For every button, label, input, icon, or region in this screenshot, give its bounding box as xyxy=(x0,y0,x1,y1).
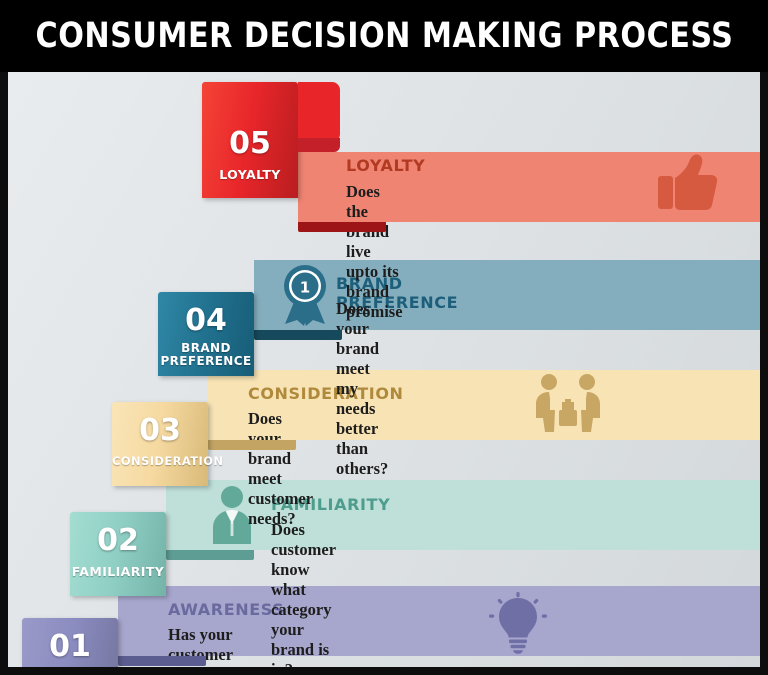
step-ribbon-shadow-brand-preference xyxy=(254,330,342,340)
infographic-page: Consumer Decision Making Process Awarene… xyxy=(0,0,768,675)
step-bar-title-awareness: Awareness xyxy=(168,600,284,619)
step-ribbon-shadow-awareness xyxy=(118,656,206,666)
step-ribbon-brand-preference[interactable]: 04 Brand Preference xyxy=(158,292,254,376)
step-label-brand-preference: Brand Preference xyxy=(158,342,254,368)
step-number-consideration: 03 xyxy=(112,413,208,448)
award-ribbon-icon: 1 xyxy=(278,264,332,331)
diagram-canvas: Awareness Has your customer heard of you… xyxy=(8,72,760,667)
step-number-loyalty: 05 xyxy=(202,126,298,161)
lightbulb-icon xyxy=(488,592,548,659)
step-bar-desc-brand-preference: Does your brand meet my needs better tha… xyxy=(336,299,388,479)
step-bar-desc-consideration: Does your brand meet customer needs? xyxy=(248,409,313,529)
step-label-loyalty: Loyalty xyxy=(202,168,298,181)
thumbs-up-icon xyxy=(656,152,718,217)
step-number-awareness: 01 xyxy=(22,629,118,664)
step-label-familiarity: Familiarity xyxy=(70,565,166,578)
step-ribbon-awareness[interactable]: 01 Awareness xyxy=(22,618,118,667)
page-title: Consumer Decision Making Process xyxy=(35,16,733,56)
step-label-consideration: Consideration xyxy=(112,455,208,468)
svg-text:1: 1 xyxy=(300,279,310,297)
step-bar-desc-loyalty: Does the brand live upto its brand promi… xyxy=(346,182,403,322)
step-ribbon-shadow-consideration xyxy=(208,440,296,450)
step-number-familiarity: 02 xyxy=(70,523,166,558)
step-ribbon-consideration[interactable]: 03 Consideration xyxy=(112,402,208,486)
title-bar: Consumer Decision Making Process xyxy=(0,0,768,72)
step-ribbon-loyalty[interactable]: 05 Loyalty xyxy=(202,82,298,198)
step-bar-desc-familiarity: Does customer know what category your br… xyxy=(271,520,336,667)
step-ribbon-tail-loyalty xyxy=(298,82,340,142)
step-number-brand-preference: 04 xyxy=(158,303,254,338)
step-ribbon-familiarity[interactable]: 02 Familiarity xyxy=(70,512,166,596)
handshake-icon xyxy=(532,372,604,439)
step-ribbon-shadow-familiarity xyxy=(166,550,254,560)
step-ribbon-shadow-loyalty xyxy=(298,222,386,232)
step-ribbon-tail-shadow-loyalty xyxy=(298,138,340,152)
step-bar-title-loyalty: Loyalty xyxy=(346,156,425,175)
